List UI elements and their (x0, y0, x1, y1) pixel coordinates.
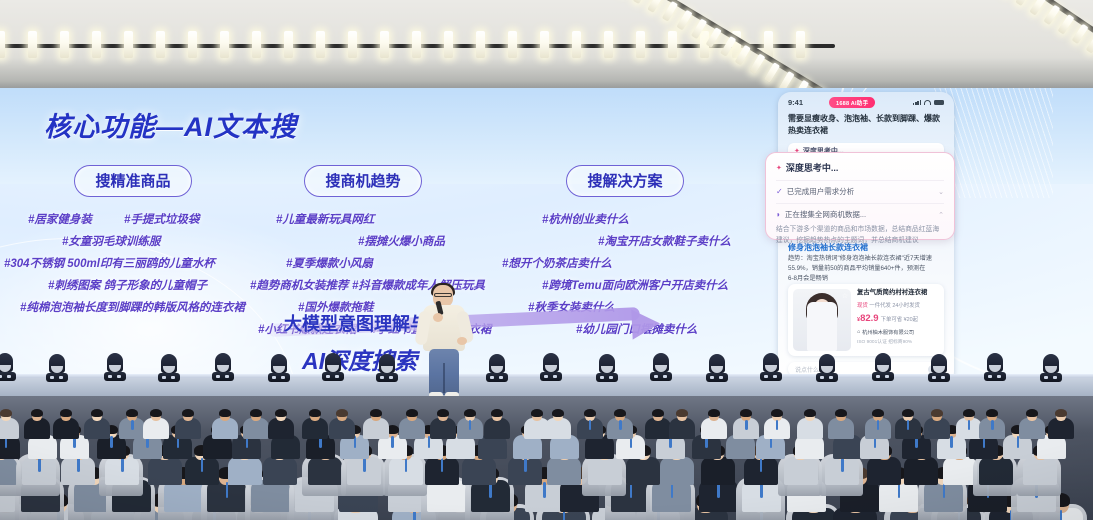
audience-lanyard (991, 420, 994, 431)
truss-lamp (1029, 0, 1046, 16)
audience-hair (60, 409, 72, 417)
ceiling-lamp (28, 31, 37, 58)
truss-lamp (735, 45, 751, 66)
ceiling-lamp (412, 31, 421, 58)
audience-seating (0, 396, 1093, 520)
base-led (553, 375, 557, 378)
moving-head-light (158, 354, 180, 382)
think-panel-title: ✦ 深度思考中... (776, 161, 944, 174)
ceiling-lamp (124, 31, 133, 58)
ceiling-shadow (0, 58, 1093, 92)
ceiling-lamp (572, 31, 581, 58)
moving-head-light (376, 354, 398, 382)
audience-lanyard (391, 436, 394, 448)
base-led (820, 376, 824, 379)
truss-lamp (691, 18, 707, 39)
light-base (816, 373, 838, 382)
audience-hair (1055, 409, 1067, 417)
speaker-presenter (415, 285, 473, 397)
price-note: 下单可省 ¥20起 (881, 317, 918, 323)
audience-torso (24, 418, 50, 439)
base-led (885, 375, 889, 378)
product-card[interactable]: ☆ 复古气质简约村衬连衣裙 现货 一件代发 24小时发货 ¥82.9下单可省 ¥… (788, 284, 944, 356)
ceiling-lamp (476, 31, 485, 58)
truss-lamp (1086, 33, 1093, 53)
think-body-line-2: 建议，挖掘趋势热点的主题词，并总结商机建议 (776, 237, 919, 244)
audience-torso (645, 418, 671, 439)
audience-hair (0, 409, 12, 417)
search-tag: #儿童最新玩具网红 (276, 211, 374, 227)
audience-torso (84, 418, 110, 439)
moving-head-light (760, 353, 782, 381)
audience-lanyard (543, 482, 546, 498)
slide-title: 核心功能—AI文本搜 (44, 105, 297, 144)
ceiling-lamp (188, 31, 197, 58)
column-tag-cloud: #居家健身装#手提式垃圾袋#女童羽毛球训练服#304不锈钢 500ml印有三丽鸥… (28, 211, 238, 341)
ceiling-lamp (220, 31, 229, 58)
audience-hair (531, 409, 543, 417)
audience-member (212, 410, 238, 441)
base-led (876, 375, 880, 378)
audience-torso (212, 418, 238, 439)
audience-member (484, 410, 510, 441)
base-led (335, 375, 339, 378)
audience-member (0, 410, 19, 441)
think-step-active[interactable]: ◗ 正在搜集全网商机数据... ⌃ (776, 203, 944, 220)
audience-lanyard (968, 420, 971, 431)
audience-lanyard (589, 420, 592, 431)
audience-hair (370, 409, 382, 417)
search-tag: #跨境Temu面向欧洲客户开店卖什么 (542, 277, 728, 293)
column-heading-pill: 搜商机趋势 (304, 165, 421, 197)
arrow-head (631, 308, 660, 339)
audience-torso (53, 418, 79, 439)
base-led (272, 376, 276, 379)
audience-hair (614, 409, 626, 417)
truss-lamp (1044, 5, 1061, 25)
base-led (7, 375, 11, 378)
audience-torso (243, 418, 269, 439)
base-led (997, 375, 1001, 378)
audience-hair (437, 409, 449, 417)
audience-member (956, 410, 982, 441)
wifi-icon (924, 100, 931, 105)
moving-head-light (104, 353, 126, 381)
led-presentation-screen: 核心功能—AI文本搜 搜精准商品#居家健身装#手提式垃圾袋#女童羽毛球训练服#3… (0, 88, 1093, 386)
status-time: 9:41 (788, 98, 803, 107)
answer-body: 趋势：淘宝热销词"修身泡泡袖长款连衣裙"近7天增速 55.9%，销量前50的商品… (788, 254, 944, 284)
ceiling-lamp (0, 31, 5, 58)
truss-lamp (764, 62, 780, 83)
audience-hair (963, 409, 975, 417)
audience-lanyard (950, 436, 953, 448)
audience-hair (552, 409, 564, 417)
audience-torso (828, 418, 854, 439)
audience-hair (804, 409, 816, 417)
audience-member (733, 410, 759, 441)
base-led (171, 376, 175, 379)
audience-lanyard (1060, 510, 1063, 520)
audience-member (545, 410, 571, 441)
audience-member (175, 410, 201, 441)
moving-head-light (596, 354, 618, 382)
product-shop: ⌂ 杭州柚木服饰有限公司 (857, 329, 939, 336)
app-badge: 1688 AI助手 (829, 97, 875, 108)
chevron-up-icon[interactable]: ⌃ (938, 211, 944, 219)
product-cert: ISO 9001认证 招标商90% (857, 338, 939, 345)
answer-line-2: 55.9%，销量前50的商品平均销量640+件，预测在 (788, 264, 944, 274)
search-tag: #手提式垃圾袋 (124, 211, 199, 227)
audience-member (430, 410, 456, 441)
audience-member (797, 410, 823, 441)
base-led (764, 375, 768, 378)
audience-torso (545, 418, 571, 439)
base-led (710, 376, 714, 379)
audience-member (143, 410, 169, 441)
product-image: ☆ (793, 289, 851, 351)
light-base (322, 372, 344, 381)
light-base (486, 373, 508, 382)
audience-torso (143, 418, 169, 439)
truss-lamp (647, 0, 663, 13)
search-tag: #趋势商机女装推荐 (250, 277, 348, 293)
light-base (984, 372, 1006, 381)
base-led (281, 376, 285, 379)
base-led (663, 375, 667, 378)
audience-hair (584, 409, 596, 417)
truss-lamp (720, 36, 736, 57)
search-tag: #夏季爆款小风扇 (286, 255, 373, 271)
ceiling-lamp (92, 31, 101, 58)
moving-head-light (486, 354, 508, 382)
think-step-done[interactable]: ✓ 已完成用户需求分析 ⌄ (776, 180, 944, 197)
audience-member (828, 410, 854, 441)
light-base (212, 372, 234, 381)
truss-lamp (1072, 24, 1089, 44)
moving-head-light (540, 353, 562, 381)
search-tag: #居家健身装 (28, 211, 92, 227)
audience-hair (219, 409, 231, 417)
status-icons (913, 100, 944, 105)
audience-lanyard (469, 420, 472, 431)
deep-thinking-panel: ✦ 深度思考中... ✓ 已完成用户需求分析 ⌄ ◗ 正在搜集全网商机数据...… (765, 152, 955, 240)
base-led (719, 376, 723, 379)
audience-member (1019, 410, 1045, 441)
audience-member (701, 410, 727, 441)
think-step-active-label: 正在搜集全网商机数据... (785, 209, 866, 220)
audience-member (577, 410, 603, 441)
ceiling-lamp (316, 31, 325, 58)
audience-torso (797, 418, 823, 439)
moving-head-light (46, 354, 68, 382)
caption-ai-deep-search: AI深度搜索 (302, 342, 417, 376)
audience-torso (1048, 418, 1074, 439)
base-led (0, 375, 2, 378)
product-ship-text: 一件代发 24小时发货 (869, 303, 920, 309)
base-led (654, 375, 658, 378)
ceiling-lamp (156, 31, 165, 58)
search-tag: #刺绣图案 鸽子形象的儿童帽子 (48, 277, 207, 293)
audience-member (1048, 410, 1074, 441)
product-subtext: 现货 一件代发 24小时发货 (857, 301, 939, 309)
light-base (104, 372, 126, 381)
base-led (117, 375, 121, 378)
model-dress (807, 302, 837, 351)
ceiling-lamp (508, 31, 517, 58)
audience-hair (91, 409, 103, 417)
light-base (872, 372, 894, 381)
audience-hair (406, 409, 418, 417)
truss-lamp (662, 1, 678, 22)
moving-head-light (0, 353, 16, 381)
audience-lanyard (776, 420, 779, 431)
audience-member (979, 410, 1005, 441)
audience-lanyard (745, 420, 748, 431)
light-base (0, 372, 16, 381)
base-led (216, 375, 220, 378)
check-icon: ✓ (776, 187, 783, 196)
base-led (988, 375, 992, 378)
audience-member (645, 410, 671, 441)
audience-torso (484, 418, 510, 439)
audience-hair (275, 409, 287, 417)
light-base (706, 373, 728, 382)
moving-head-light (1040, 354, 1062, 382)
audience-hair (676, 409, 688, 417)
ceiling-lamp (252, 31, 261, 58)
audience-lanyard (619, 420, 622, 431)
light-base (268, 373, 290, 382)
shop-icon: ⌂ (857, 329, 860, 335)
base-led (932, 376, 936, 379)
base-led (609, 376, 613, 379)
base-led (941, 376, 945, 379)
light-base (650, 372, 672, 381)
think-body-line-1: 结合下游多个渠道的商品和市场数据，总结商品红蓝海 (776, 226, 939, 233)
think-title-text: 深度思考中... (786, 161, 839, 174)
audience-hair (182, 409, 194, 417)
light-base (760, 372, 782, 381)
audience-member (84, 410, 110, 441)
search-tag: #纯棉泡泡袖长度到脚踝的韩版风格的连衣裙 (20, 299, 245, 315)
light-base (596, 373, 618, 382)
product-stock-tag: 现货 (857, 303, 868, 309)
speaker-left-hand (433, 313, 443, 322)
light-base (376, 373, 398, 382)
chevron-down-icon[interactable]: ⌄ (938, 188, 944, 196)
light-base (928, 373, 950, 382)
light-base (540, 372, 562, 381)
audience-torso (1019, 418, 1045, 439)
light-base (158, 373, 180, 382)
audience-hair (336, 409, 348, 417)
base-led (59, 376, 63, 379)
search-tag: #杭州创业卖什么 (542, 211, 629, 227)
audience-hair (309, 409, 321, 417)
moving-head-light (212, 353, 234, 381)
caption-intent-understanding: 大模型意图理解与 (284, 310, 428, 336)
audience-member (53, 410, 79, 441)
base-led (773, 375, 777, 378)
phone-status-bar: 9:41 1688 AI助手 (778, 96, 954, 109)
audience-member (24, 410, 50, 441)
base-led (544, 375, 548, 378)
audience-hair (250, 409, 262, 417)
answer-line-3: 6-8月会是畅销 (788, 274, 944, 284)
audience-hair (126, 409, 138, 417)
audience-torso (669, 418, 695, 439)
ceiling-lamp (604, 31, 613, 58)
ceiling-lamp (348, 31, 357, 58)
audience-hair (652, 409, 664, 417)
shop-name: 杭州柚木服饰有限公司 (862, 329, 914, 336)
audience-member (669, 410, 695, 441)
price-value: 82.9 (860, 313, 879, 324)
audience-member (457, 410, 483, 441)
ceiling-lamp (444, 31, 453, 58)
ceiling-lamp (380, 31, 389, 58)
base-led (490, 376, 494, 379)
product-price: ¥82.9下单可省 ¥20起 (857, 313, 939, 324)
audience-torso (399, 418, 425, 439)
base-led (380, 376, 384, 379)
base-led (162, 376, 166, 379)
moving-head-light (816, 354, 838, 382)
audience-member (119, 410, 145, 441)
moving-head-light (984, 353, 1006, 381)
glasses-icon (434, 293, 452, 297)
audience-hair (708, 409, 720, 417)
audience-hair (902, 409, 914, 417)
base-led (1053, 376, 1057, 379)
audience-lanyard (110, 436, 113, 448)
think-step-done-label: 已完成用户需求分析 (787, 186, 855, 197)
base-led (1044, 376, 1048, 379)
base-led (600, 376, 604, 379)
slide-column-1: 搜精准商品#居家健身装#手提式垃圾袋#女童羽毛球训练服#304不锈钢 500ml… (28, 165, 238, 341)
audience-hair (740, 409, 752, 417)
audience-member (363, 410, 389, 441)
product-title: 复古气质简约村衬连衣裙 (857, 289, 939, 298)
audience-hair (835, 409, 847, 417)
audience-hair (986, 409, 998, 417)
audience-torso (268, 418, 294, 439)
column-heading-wrap: 搜商机趋势 (258, 165, 468, 197)
audience-hair (491, 409, 503, 417)
moving-head-light (872, 353, 894, 381)
search-tag: #摆摊火爆小商品 (358, 233, 445, 249)
favorite-icon[interactable]: ☆ (842, 292, 848, 300)
ceiling-lamp (60, 31, 69, 58)
audience-hair (31, 409, 43, 417)
battery-icon (934, 100, 944, 105)
column-heading-pill: 搜精准商品 (74, 165, 191, 197)
light-base (1040, 373, 1062, 382)
column-heading-wrap: 搜解决方案 (520, 165, 730, 197)
column-heading-pill: 搜解决方案 (566, 165, 683, 197)
audience-member (399, 410, 425, 441)
audience-lanyard (877, 420, 880, 431)
speaker-leg-gap (443, 363, 445, 393)
audience-member (764, 410, 790, 441)
moving-head-light (706, 354, 728, 382)
base-led (389, 376, 393, 379)
base-led (225, 375, 229, 378)
product-info: 复古气质简约村衬连衣裙 现货 一件代发 24小时发货 ¥82.9下单可省 ¥20… (857, 289, 939, 351)
moving-head-light (322, 353, 344, 381)
truss-lamp (749, 53, 765, 74)
moving-head-light (268, 354, 290, 382)
audience-member (924, 410, 950, 441)
search-tag: #304不锈钢 500ml印有三丽鸥的儿童水杯 (4, 255, 215, 271)
light-base (46, 373, 68, 382)
ceiling-lamp (540, 31, 549, 58)
audience-member (895, 410, 921, 441)
truss-lamp (1058, 14, 1075, 34)
audience-torso (363, 418, 389, 439)
audience-member (302, 410, 328, 441)
signal-icon (913, 100, 921, 105)
truss-lamp (1015, 0, 1032, 6)
audience-torso (430, 418, 456, 439)
audience-member (607, 410, 633, 441)
audience-torso (701, 418, 727, 439)
moving-head-light (650, 353, 672, 381)
think-panel-body: 结合下游多个渠道的商品和市场数据，总结商品红蓝海 建议，挖掘趋势热点的主题词，并… (776, 225, 944, 246)
audience-torso (0, 418, 19, 439)
audience-lanyard (131, 420, 134, 431)
ceiling-lamp (636, 31, 645, 58)
audience-torso (302, 418, 328, 439)
audience-hair (150, 409, 162, 417)
audience-torso (329, 418, 355, 439)
search-tag: #淘宝开店女款鞋子卖什么 (598, 233, 731, 249)
audience-member (329, 410, 355, 441)
truss-lamp (676, 10, 692, 31)
audience-hair (464, 409, 476, 417)
answer-line-1: 趋势：淘宝热销词"修身泡泡袖长款连衣裙"近7天增速 (788, 254, 944, 264)
truss-lamp (633, 0, 649, 4)
audience-hair (931, 409, 943, 417)
base-led (829, 376, 833, 379)
base-led (50, 376, 54, 379)
moving-head-light (928, 354, 950, 382)
audience-hair (1026, 409, 1038, 417)
audience-member (268, 410, 294, 441)
search-tag: #女童羽毛球训练服 (62, 233, 160, 249)
audience-member (243, 410, 269, 441)
user-query-bubble: 需要显瘦收身、泡泡袖、长款到脚踝、爆款热卖连衣裙 (788, 113, 944, 137)
audience-torso (924, 418, 950, 439)
speaker-right-hand (457, 337, 467, 345)
audience-hair (872, 409, 884, 417)
base-led (108, 375, 112, 378)
base-led (326, 375, 330, 378)
conference-stage-photo: 核心功能—AI文本搜 搜精准商品#居家健身装#手提式垃圾袋#女童羽毛球训练服#3… (0, 0, 1093, 520)
audience-torso (175, 418, 201, 439)
column-heading-wrap: 搜精准商品 (28, 165, 238, 197)
ceiling-lamp (284, 31, 293, 58)
audience-member (865, 410, 891, 441)
sparkle-icon: ✦ (776, 164, 782, 172)
search-tag: #想开个奶茶店卖什么 (502, 255, 612, 271)
audience-hair (771, 409, 783, 417)
base-led (499, 376, 503, 379)
spinner-icon: ◗ (776, 210, 781, 219)
truss-lamp (706, 27, 722, 48)
ceiling-lamp (796, 31, 805, 58)
